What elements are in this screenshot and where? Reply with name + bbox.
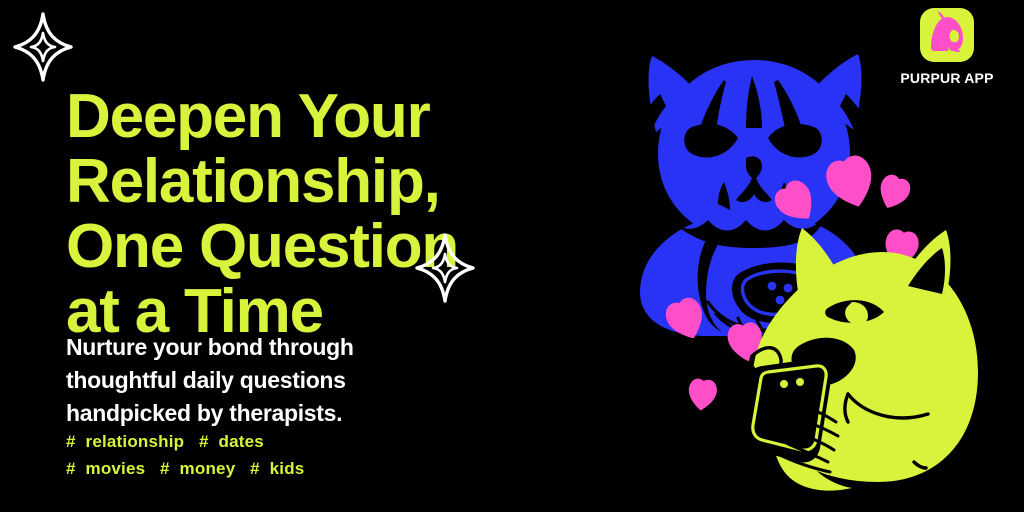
purpur-cat-logo-icon (920, 8, 974, 62)
page-title: Deepen Your Relationship, One Question a… (66, 84, 626, 344)
hashtag-list: # relationship # dates # movies # money … (66, 428, 536, 482)
hashtag-row[interactable]: # movies # money # kids (66, 455, 536, 482)
brand-logo[interactable]: PURPUR APP (886, 8, 1008, 86)
page-subtitle: Nurture your bond through thoughtful dai… (66, 331, 496, 430)
logo-label: PURPUR APP (886, 70, 1008, 86)
promo-banner: Deepen Your Relationship, One Question a… (0, 0, 1024, 512)
sparkle-icon (12, 12, 74, 82)
sparkle-icon (414, 232, 476, 304)
logo-tile[interactable] (920, 8, 974, 62)
hashtag-row[interactable]: # relationship # dates (66, 428, 536, 455)
lime-cat-illustration (732, 216, 984, 494)
